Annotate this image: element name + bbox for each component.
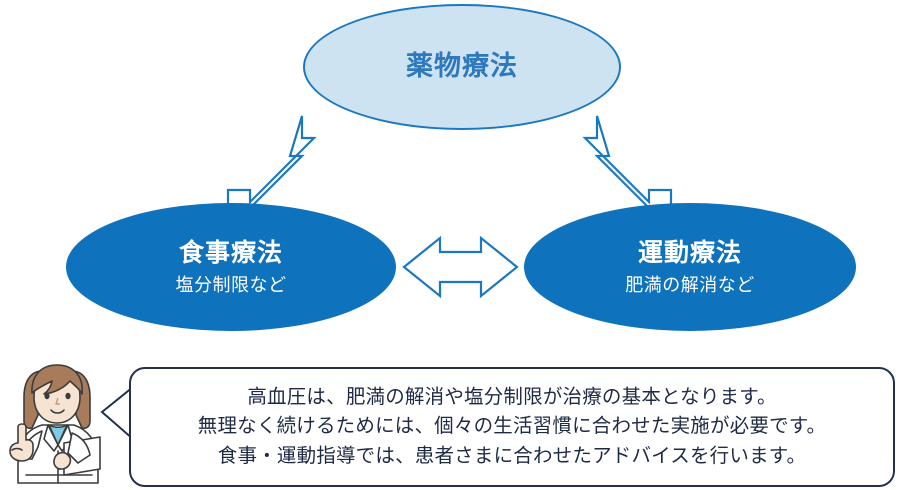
node-diet-therapy-subtitle: 塩分制限など — [176, 275, 287, 296]
node-exercise-therapy-subtitle: 肥満の解消など — [625, 275, 755, 296]
speech-bubble: 高血圧は、肥満の解消や塩分制限が治療の基本となります。 無理なく続けるためには、… — [129, 367, 895, 487]
node-exercise-therapy[interactable]: 運動療法 肥満の解消など — [524, 203, 856, 331]
eye-left — [44, 393, 49, 399]
diagram-canvas: 薬物療法 食事療法 塩分制限など 運動療法 肥満の解消など 高血圧は、肥満の解消… — [0, 0, 899, 490]
node-diet-therapy-title: 食事療法 — [179, 239, 283, 268]
speech-bubble-line-2: 無理なく続けるためには、個々の生活習慣に合わせた実施が必要です。 — [198, 412, 826, 442]
holding-hand — [54, 453, 70, 469]
node-drug-therapy-title: 薬物療法 — [406, 51, 518, 82]
eye-right — [65, 393, 70, 399]
speech-bubble-line-3: 食事・運動指導では、患者さまに合わせたアドバイスを行います。 — [218, 442, 806, 472]
node-diet-therapy[interactable]: 食事療法 塩分制限など — [66, 203, 396, 331]
pointing-hand — [10, 424, 33, 461]
node-exercise-therapy-title: 運動療法 — [638, 239, 742, 268]
node-drug-therapy[interactable]: 薬物療法 — [303, 4, 621, 130]
connector-diet-exercise-arrow — [404, 238, 517, 296]
speech-bubble-line-1: 高血圧は、肥満の解消や塩分制限が治療の基本となります。 — [247, 383, 776, 413]
female-doctor-illustration — [2, 355, 114, 490]
